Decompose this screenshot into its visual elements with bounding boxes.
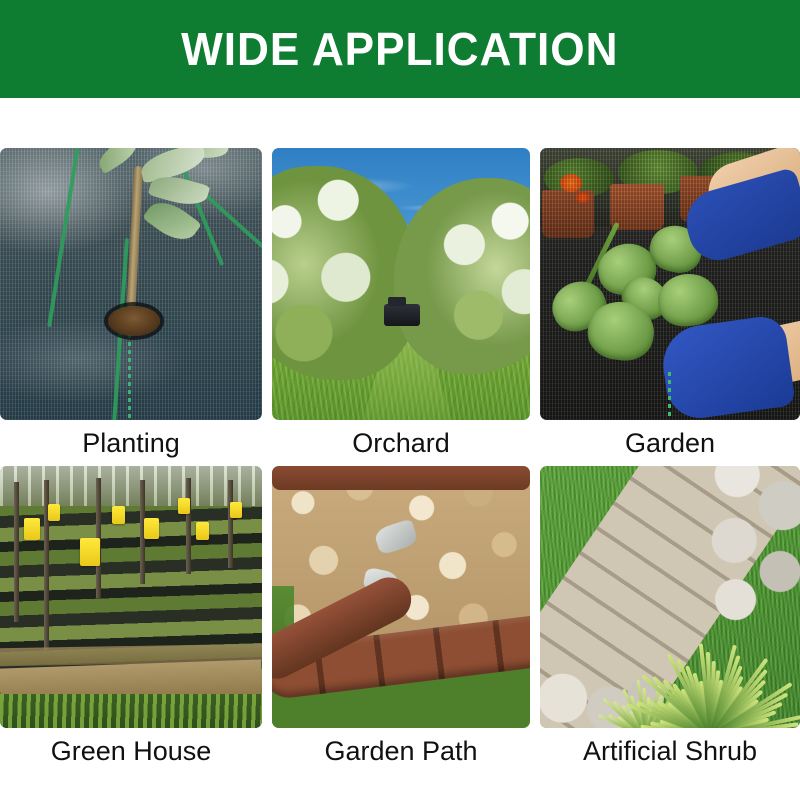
- spiky-shrub: [614, 556, 800, 728]
- gallery-cell-garden[interactable]: Garden: [540, 148, 800, 466]
- gallery-cell-green-house[interactable]: Green House: [0, 466, 262, 774]
- cell-label-garden-path: Garden Path: [272, 728, 530, 774]
- yellow-sticky-trap: [24, 518, 40, 540]
- wide-application-infographic: WIDE APPLICATION: [0, 0, 800, 800]
- planting-image: [0, 148, 262, 420]
- fabric-dotted-line: [668, 372, 671, 420]
- foreground-crop-row: [0, 694, 262, 728]
- yellow-sticky-trap: [196, 522, 209, 540]
- planting-hole-rootball: [108, 306, 160, 336]
- header-banner: WIDE APPLICATION: [0, 0, 800, 98]
- yellow-sticky-trap: [230, 502, 242, 518]
- gallery-row-1: Planting Orchard: [0, 148, 800, 466]
- tractor: [384, 304, 420, 326]
- gallery-cell-artificial-shrub[interactable]: Artificial Shrub: [540, 466, 800, 774]
- garden-image: [540, 148, 800, 420]
- yellow-sticky-trap: [144, 518, 159, 539]
- gallery-cell-orchard[interactable]: Orchard: [272, 148, 530, 466]
- green-house-image: [0, 466, 262, 728]
- yellow-sticky-trap: [112, 506, 125, 524]
- gallery-cell-garden-path[interactable]: Garden Path: [272, 466, 530, 774]
- support-post: [186, 478, 191, 574]
- fabric-dotted-line: [128, 326, 131, 420]
- cell-label-artificial-shrub: Artificial Shrub: [540, 728, 800, 774]
- plant-leaf: [655, 271, 720, 329]
- yellow-sticky-trap: [178, 498, 190, 514]
- garden-path-image: [272, 466, 530, 728]
- cell-label-planting: Planting: [0, 420, 262, 466]
- upper-stone-edging: [272, 466, 530, 490]
- yellow-sticky-trap: [80, 538, 100, 566]
- yellow-sticky-trap: [48, 504, 60, 521]
- gallery-cell-planting[interactable]: Planting: [0, 148, 262, 466]
- gallery-row-2: Green House Garden Path: [0, 466, 800, 776]
- support-post: [228, 480, 233, 568]
- cell-label-green-house: Green House: [0, 728, 262, 774]
- orchard-image: [272, 148, 530, 420]
- artificial-shrub-image: [540, 466, 800, 728]
- cell-label-orchard: Orchard: [272, 420, 530, 466]
- support-post: [14, 482, 19, 622]
- page-title: WIDE APPLICATION: [181, 26, 618, 72]
- cell-label-garden: Garden: [540, 420, 800, 466]
- greenhouse-roof: [0, 466, 262, 506]
- application-gallery: Planting Orchard: [0, 148, 800, 776]
